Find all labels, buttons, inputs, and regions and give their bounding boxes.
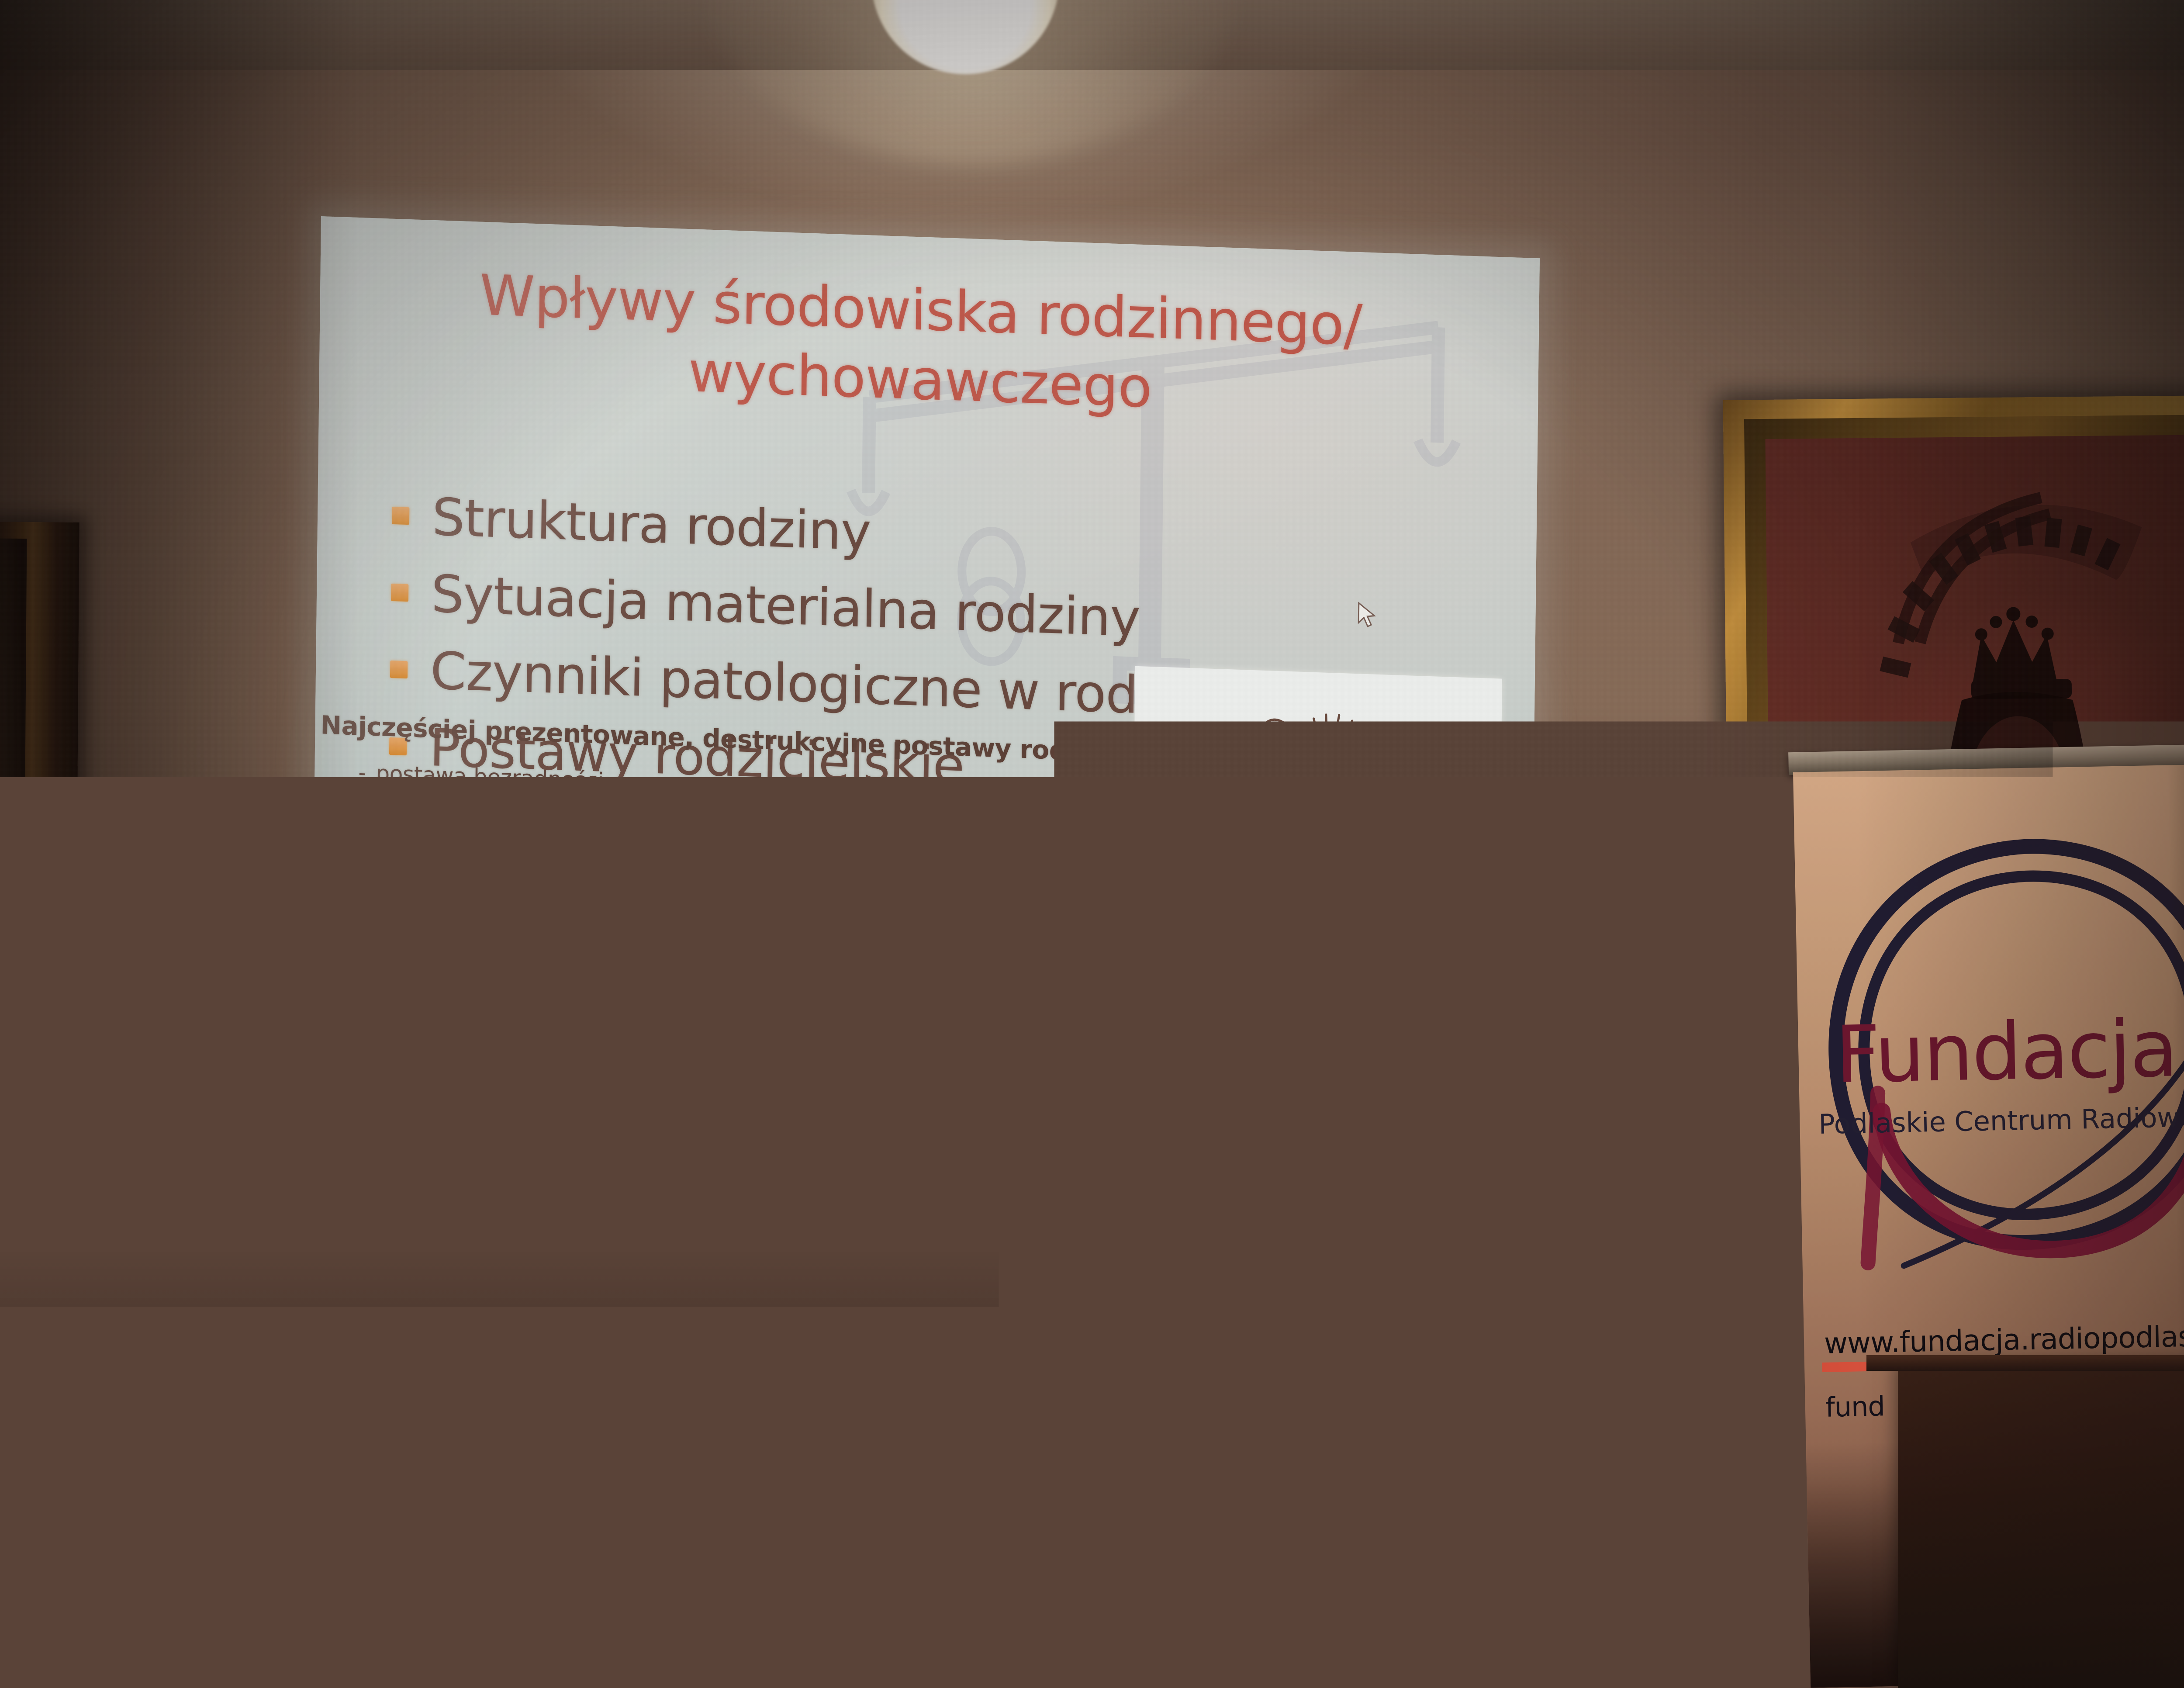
photo-scene: Wpływy środowiska rodzinnego/ wychowawcz… (0, 0, 2184, 1688)
slide-title: Wpływy środowiska rodzinnego/ wychowawcz… (450, 260, 1391, 431)
red-paragraph: Rodzice często zaniedbują swoje dzieci, … (383, 953, 1315, 1106)
projected-slide: Wpływy środowiska rodzinnego/ wychowawcz… (309, 216, 1540, 1287)
bullet-label: Czynniki patologiczne w rodzinie (430, 645, 1255, 725)
lighting-shade-bottom (0, 1251, 2184, 1688)
dash-marker-icon: - (358, 790, 376, 826)
bullet-label: Sytuacja materialna rodziny (431, 568, 1140, 644)
square-bullet-icon (392, 507, 409, 525)
dash-marker-icon: - (357, 826, 375, 861)
family-drawing-icon (1132, 666, 1502, 937)
bullet-item: Sytuacja materialna rodziny (390, 567, 1483, 656)
slide-surface: Wpływy środowiska rodzinnego/ wychowawcz… (309, 216, 1540, 1287)
bullet-label: Struktura rodziny (432, 491, 871, 558)
dash-marker-icon: - (358, 755, 376, 791)
family-clipart-image (1132, 666, 1502, 937)
square-bullet-icon (390, 661, 408, 678)
square-bullet-icon (391, 584, 408, 602)
dash-marker-icon: - (356, 896, 374, 932)
mouse-pointer-icon (1356, 602, 1377, 630)
dash-marker-icon: - (357, 861, 375, 897)
